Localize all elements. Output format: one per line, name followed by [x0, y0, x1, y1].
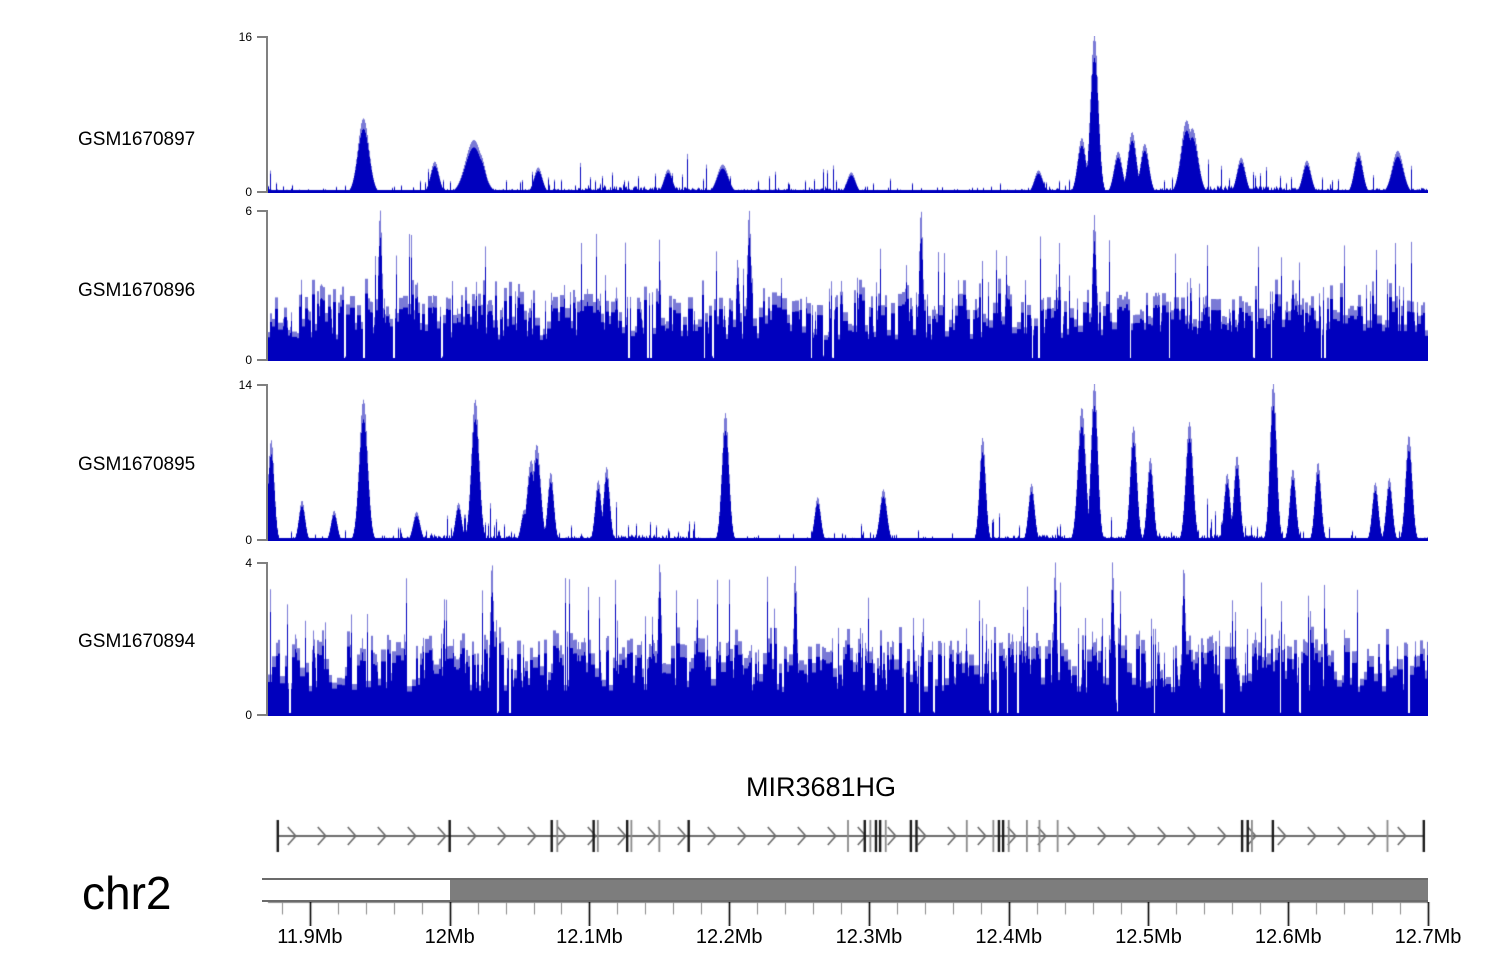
coverage-track-GSM1670895: GSM1670895 14 0	[0, 378, 1500, 548]
ruler-tick-label: 12.1Mb	[534, 926, 644, 949]
axis-max-2: 14	[208, 378, 252, 392]
ideogram-segment-empty	[268, 880, 450, 900]
axis-min-3: 0	[208, 708, 252, 722]
track-label-2: GSM1670895	[78, 454, 195, 476]
axis-min-2: 0	[208, 533, 252, 547]
axis-max-1: 6	[208, 204, 252, 218]
axis-min-0: 0	[208, 185, 252, 199]
ideogram-bar[interactable]	[262, 878, 1428, 902]
coverage-track-GSM1670896: GSM1670896 6 0	[0, 204, 1500, 374]
gene-model-track[interactable]	[258, 812, 1438, 860]
coordinate-ruler[interactable]	[258, 902, 1438, 926]
plot-area-2	[268, 384, 1428, 541]
ruler-tick-label: 12.6Mb	[1233, 926, 1343, 949]
ruler-tick-label: 12.7Mb	[1373, 926, 1483, 949]
axis-min-1: 0	[208, 353, 252, 367]
track-label-1: GSM1670896	[78, 280, 195, 302]
track-label-3: GSM1670894	[78, 631, 195, 653]
ruler-label-group: 11.9Mb12Mb12.1Mb12.2Mb12.3Mb12.4Mb12.5Mb…	[0, 926, 1500, 958]
ruler-tick-label: 12.4Mb	[954, 926, 1064, 949]
coverage-track-GSM1670894: GSM1670894 4 0	[0, 556, 1500, 726]
track-label-0: GSM1670897	[78, 129, 195, 151]
ruler-tick-label: 12.2Mb	[674, 926, 784, 949]
axis-max-0: 16	[208, 30, 252, 44]
plot-area-0	[268, 36, 1428, 193]
ruler-tick-label: 12.3Mb	[814, 926, 924, 949]
coverage-track-GSM1670897: GSM1670897 16 0	[0, 30, 1500, 200]
ideogram-segment-band	[450, 880, 1428, 900]
plot-area-3	[268, 562, 1428, 716]
axis-max-3: 4	[208, 556, 252, 570]
plot-area-1	[268, 210, 1428, 361]
ruler-tick-label: 12Mb	[395, 926, 505, 949]
ruler-tick-label: 11.9Mb	[255, 926, 365, 949]
chromosome-label: chr2	[82, 866, 171, 920]
ruler-tick-label: 12.5Mb	[1093, 926, 1203, 949]
gene-name-label: MIR3681HG	[746, 772, 896, 803]
